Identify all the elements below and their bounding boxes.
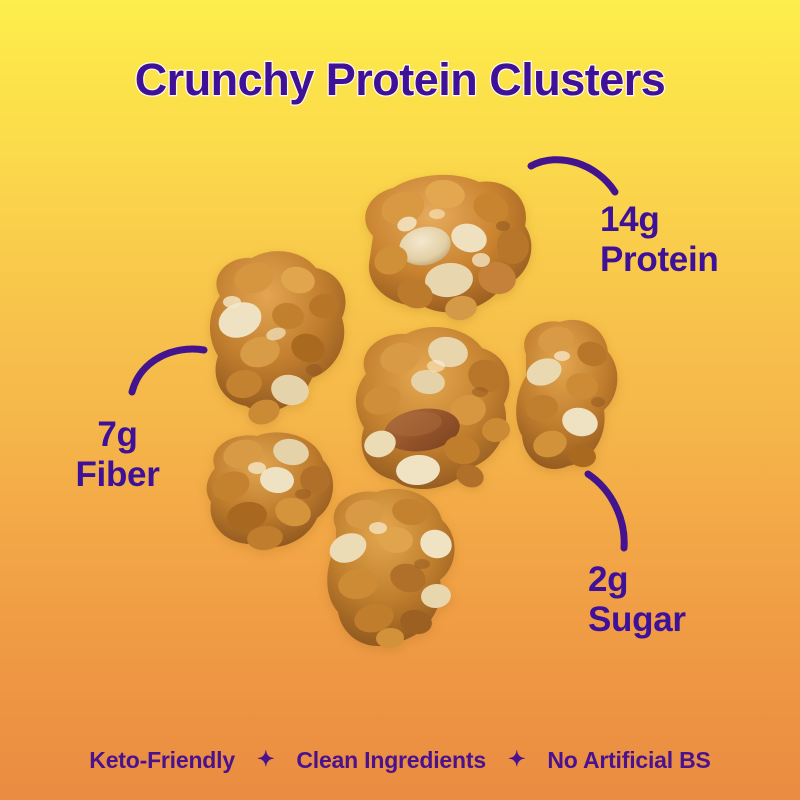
cluster-left-upper xyxy=(198,244,363,439)
sparkle-icon-2: ✦ xyxy=(508,749,525,770)
stat-protein-value: 14g xyxy=(600,200,718,240)
cluster-center xyxy=(340,318,525,503)
sugar-arc-icon xyxy=(582,466,634,556)
cluster-top-center xyxy=(345,168,545,333)
poster-canvas: Crunchy Protein Clusters xyxy=(0,0,800,800)
product-image xyxy=(0,0,800,800)
claim-keto-friendly: Keto-Friendly xyxy=(89,747,235,774)
stat-sugar-value: 2g xyxy=(588,560,686,600)
cluster-right-middle xyxy=(508,310,628,485)
stat-sugar: 2g Sugar xyxy=(588,560,686,640)
claims-bar: Keto-Friendly ✦ Clean Ingredients ✦ No A… xyxy=(0,747,800,774)
stat-fiber: 7g Fiber xyxy=(55,415,180,495)
cluster-bottom-center xyxy=(312,478,472,658)
protein-arc-icon xyxy=(525,150,635,205)
stat-fiber-value: 7g xyxy=(55,415,180,455)
stat-sugar-label: Sugar xyxy=(588,600,686,640)
claim-no-artificial-bs: No Artificial BS xyxy=(547,747,710,774)
claim-clean-ingredients: Clean Ingredients xyxy=(296,747,486,774)
sparkle-icon-1: ✦ xyxy=(257,749,274,770)
stat-protein: 14g Protein xyxy=(600,200,718,280)
fiber-arc-icon xyxy=(126,342,211,400)
stat-protein-label: Protein xyxy=(600,240,718,280)
stat-fiber-label: Fiber xyxy=(55,455,180,495)
